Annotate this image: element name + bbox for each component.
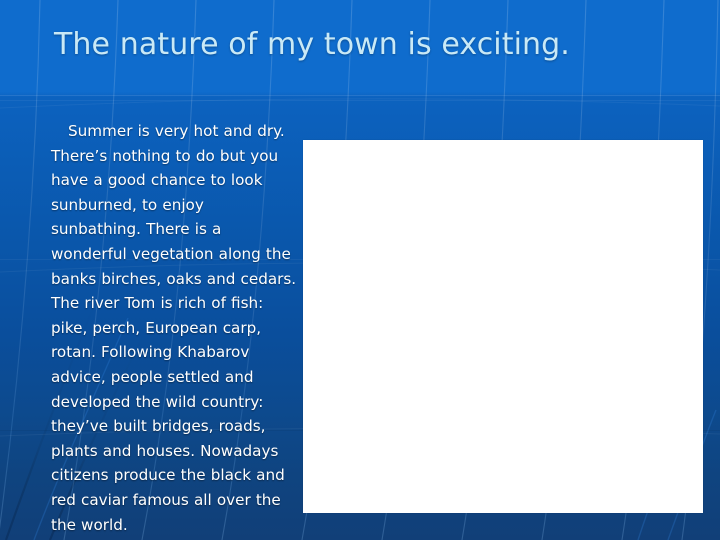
slide-body-text: Summer is very hot and dry. There’s noth… [51,119,298,537]
slide: The nature of my town is exciting. Summe… [0,0,720,540]
slide-title: The nature of my town is exciting. [54,26,684,64]
background-band-divider [0,100,720,101]
background-band-divider [0,95,720,96]
picture-placeholder [303,140,703,513]
